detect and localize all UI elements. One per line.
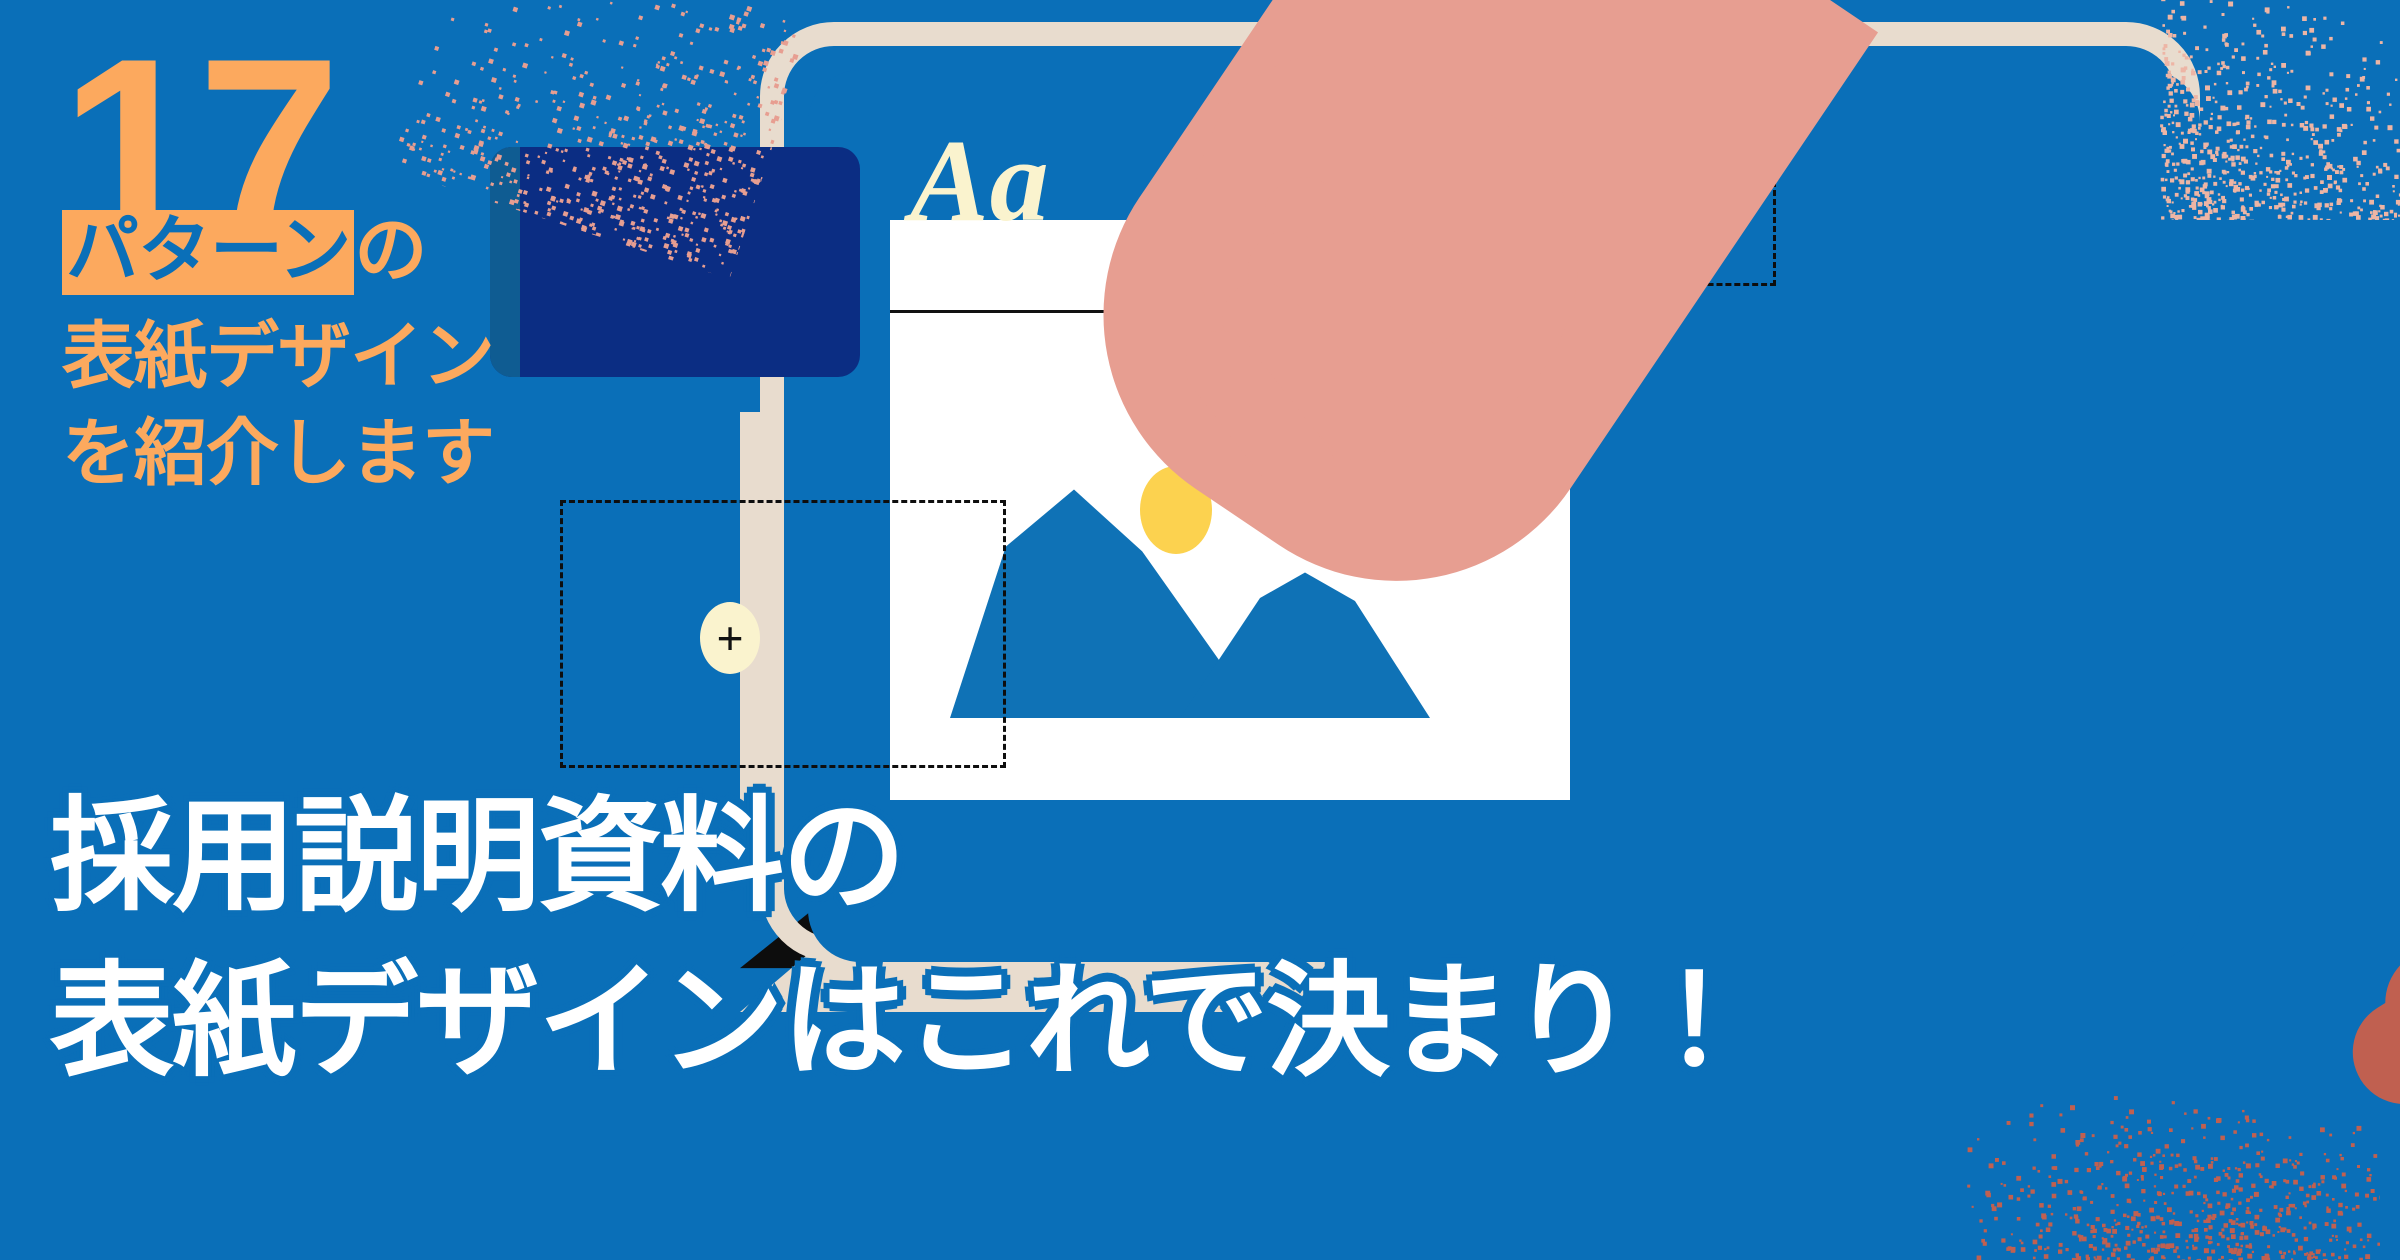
particle-spray-bottom: [1960, 1090, 2380, 1260]
particle-spray-right: [2160, 0, 2400, 220]
headline-line-2: 表紙デザインはこれで決まり！: [50, 960, 2380, 1084]
kicker-tail-1: の: [354, 210, 426, 291]
kicker-line-2: 表紙デザイン: [62, 318, 494, 395]
poster-canvas: Aa + +: [0, 0, 2400, 1260]
kicker-line-3: を紹介します: [62, 415, 494, 492]
kicker-line-1: パターンの: [62, 212, 426, 289]
headline-line-1: 採用説明資料の: [50, 795, 904, 919]
kicker-highlight-pattern: パターン: [62, 210, 354, 295]
mountain-small-icon: [1180, 568, 1430, 718]
monitor-illustration: Aa + +: [760, 22, 2200, 1012]
